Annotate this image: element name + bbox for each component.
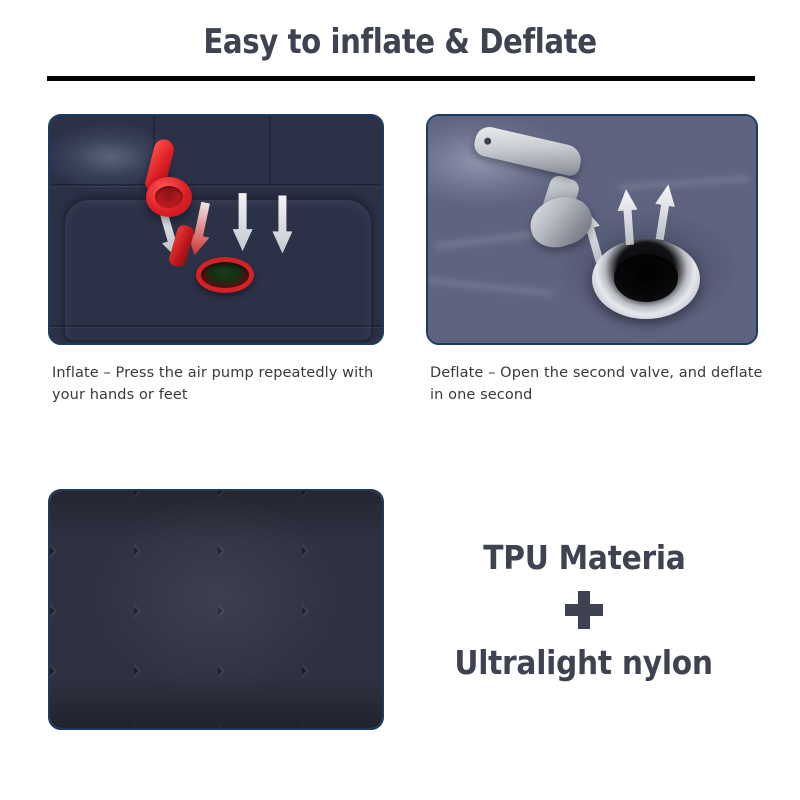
material-callout: TPU Materia Ultralight nylon [410,500,758,720]
plus-icon [565,591,603,629]
grey-pad-image [428,116,756,343]
pad-seam-horizontal-top [50,184,382,186]
valve-cap-lever [472,125,584,179]
title-divider [47,76,755,81]
deflate-valve-photo [426,114,758,345]
navy-quilted-pad-image [50,116,382,343]
quilt-shading-overlay [50,491,382,728]
material-line-tpu: TPU Materia [483,538,685,577]
pad-seam-horizontal-bottom [50,325,382,327]
inflate-caption: Inflate – Press the air pump repeatedly … [52,362,388,406]
pad-seam-vertical-right [269,116,271,184]
inflate-valve-photo [48,114,384,345]
diamond-quilt-image [50,491,382,728]
deflate-caption: Deflate – Open the second valve, and def… [430,362,766,406]
red-valve-opening [196,257,254,293]
page-title: Easy to inflate & Deflate [56,22,744,62]
fabric-fold-3 [618,175,749,190]
header: Easy to inflate & Deflate [0,0,800,96]
fabric-fold-2 [428,277,553,296]
quilted-texture-photo [48,489,384,730]
material-line-nylon: Ultralight nylon [455,643,713,682]
open-valve-ring [592,239,700,319]
